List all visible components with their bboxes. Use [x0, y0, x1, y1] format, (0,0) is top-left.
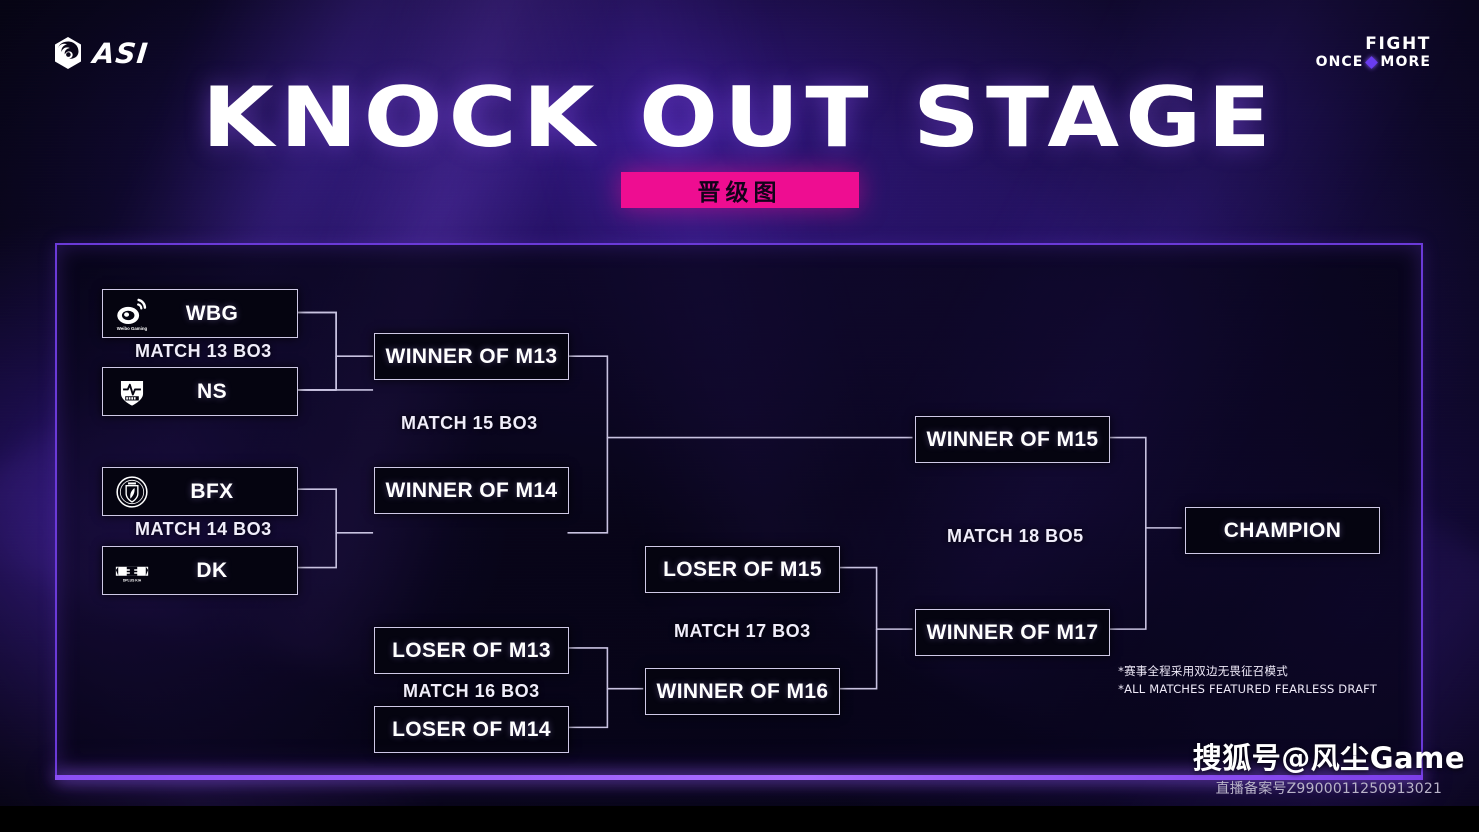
node-label: WINNER OF M13 — [375, 345, 568, 369]
node-winner-of-m15[interactable]: WINNER OF M15 — [915, 416, 1110, 463]
subtitle-banner: 晋级图 — [621, 172, 859, 208]
asi-hex-swirl-icon — [52, 36, 84, 70]
tagline-once-more: ONCE MORE — [1316, 54, 1431, 71]
title-block: KNOCK OUT STAGE 晋级图 — [0, 78, 1479, 208]
footnote-en: *ALL MATCHES FEATURED FEARLESS DRAFT — [1118, 681, 1377, 699]
node-loser-of-m15[interactable]: LOSER OF M15 — [645, 546, 840, 593]
node-label: WINNER OF M17 — [916, 621, 1109, 645]
watermark-handle: 搜狐号@风尘Game — [1193, 735, 1465, 777]
team-node-dk[interactable]: DPLUS KIA DK — [102, 546, 298, 595]
match-label-m13: MATCH 13 BO3 — [135, 341, 272, 362]
match-label-m18: MATCH 18 BO5 — [947, 526, 1084, 547]
team-name: NS — [153, 380, 297, 404]
match-label-m14: MATCH 14 BO3 — [135, 519, 272, 540]
bracket-frame: Weibo Gaming WBG NS — [55, 243, 1423, 779]
match-label-m16: MATCH 16 BO3 — [403, 681, 540, 702]
bracket-diagram: Weibo Gaming WBG NS — [57, 245, 1421, 777]
watermark-license: 直播备案号Z9900011250913021 — [1193, 778, 1465, 798]
team-name: WBG — [153, 302, 297, 326]
page-title: KNOCK OUT STAGE — [0, 78, 1479, 158]
team-node-wbg[interactable]: Weibo Gaming WBG — [102, 289, 298, 338]
fight-once-more-lockup: FIGHT ONCE MORE — [1316, 34, 1431, 71]
node-winner-of-m16[interactable]: WINNER OF M16 — [645, 668, 840, 715]
node-label: WINNER OF M14 — [375, 479, 568, 503]
svg-text:DPLUS KIA: DPLUS KIA — [123, 578, 142, 582]
dplus-kia-band-icon: DPLUS KIA — [111, 550, 153, 592]
node-label: CHAMPION — [1186, 519, 1379, 543]
asi-logo: ASI — [52, 36, 148, 70]
weibo-gaming-logo-icon: Weibo Gaming — [111, 293, 153, 335]
node-winner-of-m13[interactable]: WINNER OF M13 — [374, 333, 569, 380]
node-winner-of-m14[interactable]: WINNER OF M14 — [374, 467, 569, 514]
watermark: 搜狐号@风尘Game 直播备案号Z9900011250913021 — [1193, 735, 1465, 798]
ninjas-in-pyjamas-shield-icon — [111, 371, 153, 413]
node-loser-of-m13[interactable]: LOSER OF M13 — [374, 627, 569, 674]
asi-logo-text: ASI — [91, 37, 150, 70]
subtitle-text: 晋级图 — [698, 173, 782, 207]
node-label: WINNER OF M16 — [646, 680, 839, 704]
node-label: LOSER OF M14 — [375, 718, 568, 742]
team-node-bfx[interactable]: BFX — [102, 467, 298, 516]
bilibili-fearx-crest-icon — [111, 471, 153, 513]
team-name: BFX — [153, 480, 297, 504]
footnotes: *赛事全程采用双边无畏征召模式 *ALL MATCHES FEATURED FE… — [1118, 663, 1377, 699]
tagline-once: ONCE — [1316, 54, 1364, 71]
svg-text:Weibo Gaming: Weibo Gaming — [117, 326, 148, 331]
node-loser-of-m14[interactable]: LOSER OF M14 — [374, 706, 569, 753]
match-label-m17: MATCH 17 BO3 — [674, 621, 811, 642]
node-winner-of-m17[interactable]: WINNER OF M17 — [915, 609, 1110, 656]
match-label-m15: MATCH 15 BO3 — [401, 413, 538, 434]
node-label: LOSER OF M15 — [646, 558, 839, 582]
node-champion[interactable]: CHAMPION — [1185, 507, 1380, 554]
footnote-cn: *赛事全程采用双边无畏征召模式 — [1118, 663, 1377, 681]
tagline-fight: FIGHT — [1316, 34, 1431, 54]
tagline-more: MORE — [1380, 54, 1431, 71]
bottom-bar — [0, 806, 1479, 832]
node-label: WINNER OF M15 — [916, 428, 1109, 452]
node-label: LOSER OF M13 — [375, 639, 568, 663]
team-node-ns[interactable]: NS — [102, 367, 298, 416]
team-name: DK — [153, 559, 297, 583]
diamond-icon — [1366, 56, 1379, 69]
